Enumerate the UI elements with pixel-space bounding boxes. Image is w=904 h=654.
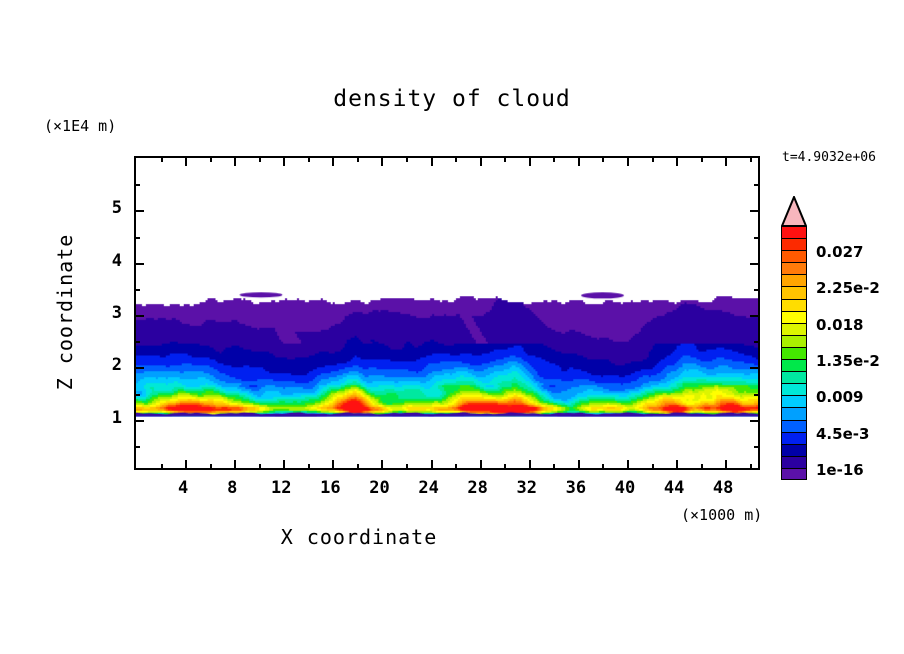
- x-tick-label: 8: [227, 478, 237, 498]
- axis-tick: [135, 341, 140, 343]
- axis-tick: [135, 315, 144, 317]
- colorbar-band: [781, 335, 807, 347]
- axis-tick: [750, 157, 752, 162]
- axis-tick: [602, 157, 604, 162]
- colorbar-band: [781, 456, 807, 468]
- axis-tick: [135, 420, 144, 422]
- axis-tick: [161, 464, 163, 469]
- axis-tick: [652, 157, 654, 162]
- contour-plot-frame: [134, 156, 760, 470]
- colorbar-band: [781, 323, 807, 335]
- colorbar-label: 0.009: [816, 388, 863, 406]
- colorbar-label: 0.018: [816, 316, 863, 334]
- x-tick-label: 44: [664, 478, 684, 498]
- axis-tick: [161, 157, 163, 162]
- axis-tick: [185, 460, 187, 469]
- axis-tick: [504, 464, 506, 469]
- axis-tick: [754, 237, 759, 239]
- colorbar-label: 0.027: [816, 243, 863, 261]
- axis-tick: [135, 446, 140, 448]
- axis-tick: [504, 157, 506, 162]
- y-tick-label: 3: [104, 303, 122, 323]
- axis-tick: [480, 157, 482, 166]
- x-tick-label: 40: [615, 478, 635, 498]
- axis-tick: [750, 464, 752, 469]
- colorbar-label: 1e-16: [816, 461, 864, 479]
- axis-tick: [381, 157, 383, 166]
- x-tick-label: 12: [271, 478, 291, 498]
- axis-tick: [676, 460, 678, 469]
- axis-tick: [750, 315, 759, 317]
- x-tick-label: 32: [517, 478, 537, 498]
- axis-tick: [754, 394, 759, 396]
- axis-tick: [283, 157, 285, 166]
- axis-tick: [627, 460, 629, 469]
- y-axis-unit-label: (×1E4 m): [44, 117, 116, 135]
- colorbar-band: [781, 432, 807, 444]
- axis-tick: [135, 367, 144, 369]
- colorbar-band: [781, 250, 807, 262]
- x-tick-label: 28: [467, 478, 487, 498]
- axis-tick: [553, 464, 555, 469]
- axis-tick: [754, 341, 759, 343]
- colorbar-band: [781, 395, 807, 407]
- axis-tick: [234, 460, 236, 469]
- axis-tick: [750, 263, 759, 265]
- axis-tick: [578, 157, 580, 166]
- colorbar-band: [781, 407, 807, 419]
- axis-tick: [210, 464, 212, 469]
- colorbar-band: [781, 347, 807, 359]
- colorbar-band: [781, 468, 807, 480]
- colorbar-arrow-cap: [781, 196, 807, 227]
- axis-tick: [750, 420, 759, 422]
- axis-tick: [135, 237, 140, 239]
- axis-tick: [455, 157, 457, 162]
- axis-tick: [750, 210, 759, 212]
- colorbar-band: [781, 274, 807, 286]
- axis-tick: [480, 460, 482, 469]
- axis-tick: [602, 464, 604, 469]
- x-tick-label: 16: [320, 478, 340, 498]
- axis-tick: [754, 446, 759, 448]
- axis-tick: [135, 289, 140, 291]
- colorbar-band: [781, 238, 807, 250]
- axis-tick: [332, 460, 334, 469]
- axis-tick: [754, 289, 759, 291]
- colorbar-band: [781, 226, 807, 238]
- axis-tick: [308, 464, 310, 469]
- axis-tick: [259, 464, 261, 469]
- colorbar-band: [781, 444, 807, 456]
- axis-tick: [676, 157, 678, 166]
- colorbar-label: 4.5e-3: [816, 425, 869, 443]
- axis-tick: [553, 157, 555, 162]
- axis-tick: [283, 460, 285, 469]
- colorbar-band: [781, 286, 807, 298]
- axis-tick: [259, 157, 261, 162]
- contour-field: [136, 158, 758, 468]
- colorbar-band: [781, 262, 807, 274]
- colorbar-band: [781, 420, 807, 432]
- axis-tick: [308, 157, 310, 162]
- colorbar-band: [781, 371, 807, 383]
- x-tick-label: 24: [418, 478, 438, 498]
- colorbar-label: 1.35e-2: [816, 352, 880, 370]
- axis-tick: [406, 464, 408, 469]
- axis-tick: [701, 157, 703, 162]
- axis-tick: [431, 460, 433, 469]
- axis-tick: [725, 460, 727, 469]
- x-tick-label: 36: [566, 478, 586, 498]
- axis-tick: [431, 157, 433, 166]
- colorbar-band: [781, 383, 807, 395]
- axis-tick: [406, 157, 408, 162]
- axis-tick: [652, 464, 654, 469]
- page-title: density of cloud: [0, 86, 904, 112]
- axis-tick: [529, 460, 531, 469]
- axis-tick: [754, 184, 759, 186]
- y-axis-title: Z coordinate: [53, 212, 77, 412]
- axis-tick: [455, 464, 457, 469]
- y-tick-label: 4: [104, 251, 122, 271]
- x-tick-label: 20: [369, 478, 389, 498]
- axis-tick: [357, 464, 359, 469]
- axis-tick: [210, 157, 212, 162]
- axis-tick: [701, 464, 703, 469]
- axis-tick: [332, 157, 334, 166]
- x-axis-title: X coordinate: [0, 525, 718, 549]
- colorbar-label: 2.25e-2: [816, 279, 880, 297]
- axis-tick: [529, 157, 531, 166]
- axis-tick: [185, 157, 187, 166]
- x-tick-label: 48: [713, 478, 733, 498]
- timestamp-label: t=4.9032e+06: [782, 150, 876, 165]
- axis-tick: [627, 157, 629, 166]
- axis-tick: [381, 460, 383, 469]
- axis-tick: [234, 157, 236, 166]
- y-tick-label: 2: [104, 355, 122, 375]
- axis-tick: [135, 210, 144, 212]
- axis-tick: [750, 367, 759, 369]
- axis-tick: [135, 394, 140, 396]
- axis-tick: [725, 157, 727, 166]
- colorbar-band: [781, 359, 807, 371]
- axis-tick: [357, 157, 359, 162]
- axis-tick: [135, 184, 140, 186]
- axis-tick: [578, 460, 580, 469]
- axis-tick: [135, 263, 144, 265]
- x-tick-label: 4: [178, 478, 188, 498]
- colorbar-band: [781, 299, 807, 311]
- y-tick-label: 5: [104, 198, 122, 218]
- x-axis-unit-label: (×1000 m): [681, 506, 762, 524]
- colorbar[interactable]: [781, 226, 807, 480]
- y-tick-label: 1: [104, 408, 122, 428]
- colorbar-band: [781, 311, 807, 323]
